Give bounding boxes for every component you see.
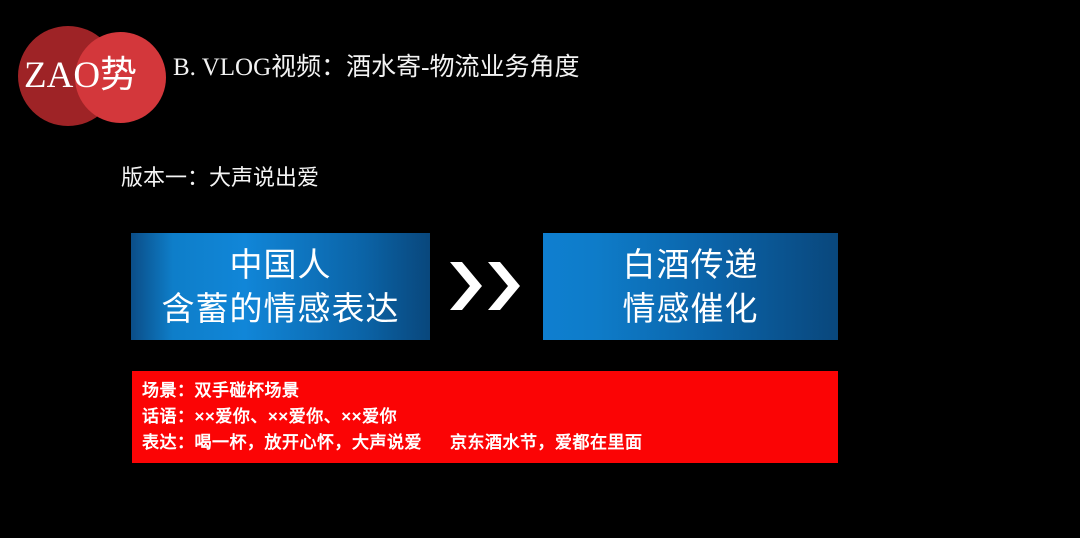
concept-box-right[interactable]: 白酒传递 情感催化 [543,233,838,340]
section-label: 版本一：大声说出爱 [121,163,319,193]
detail-panel: 场景：双手碰杯场景 话语：××爱你、××爱你、××爱你 表达：喝一杯，放开心怀，… [132,371,838,463]
slide-title: B. VLOG视频：酒水寄-物流业务角度 [173,52,579,84]
concept-box-right-line1: 白酒传递 [623,243,759,287]
concept-box-left[interactable]: 中国人 含蓄的情感表达 [131,233,430,340]
detail-line-scene: 场景：双手碰杯场景 [142,378,572,404]
concept-box-left-line1: 中国人 [230,243,332,287]
detail-line-dialogue: 话语：××爱你、××爱你、××爱你 [142,404,572,430]
concept-box-right-line2: 情感催化 [623,287,759,331]
detail-tagline: 京东酒水节，爱都在里面 [450,430,643,456]
double-chevron-right-icon [448,258,526,314]
logo-text: ZAO势 [24,56,166,96]
slide-canvas: ZAO势 B. VLOG视频：酒水寄-物流业务角度 版本一：大声说出爱 中国人 … [0,0,1080,538]
zao-logo: ZAO势 [18,20,166,132]
concept-box-left-line2: 含蓄的情感表达 [162,287,400,331]
slide-header: ZAO势 B. VLOG视频：酒水寄-物流业务角度 [0,0,1080,140]
